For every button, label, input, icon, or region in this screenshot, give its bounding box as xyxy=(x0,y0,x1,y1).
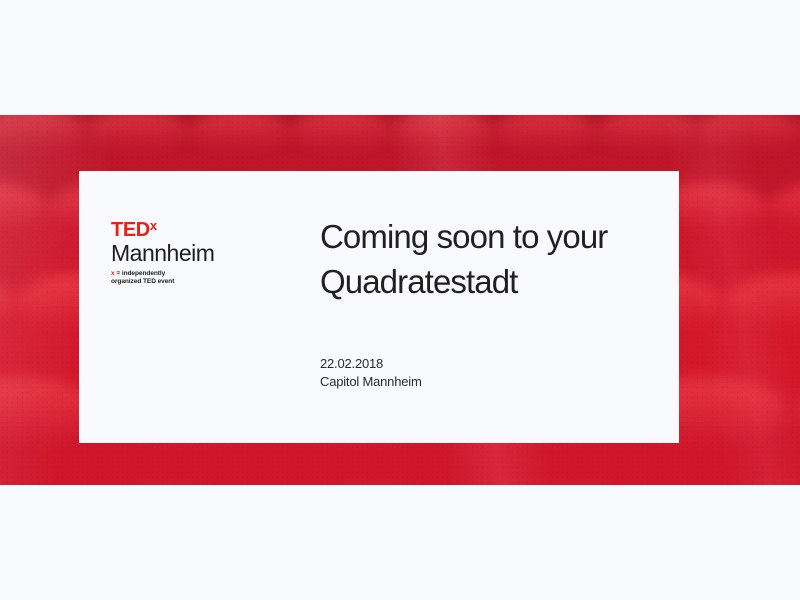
headline-line-1: Coming soon to your xyxy=(320,214,660,259)
headline: Coming soon to your Quadratestadt xyxy=(320,214,660,304)
tedx-x-superscript: x xyxy=(150,218,157,233)
tagline-line-1: x = independently xyxy=(111,270,165,277)
tagline-line-2: organized TED event xyxy=(111,278,174,285)
event-venue: Capitol Mannheim xyxy=(320,373,422,391)
slide-canvas: TEDx Mannheim x = independently organize… xyxy=(0,0,800,600)
headline-line-2: Quadratestadt xyxy=(320,259,660,304)
event-details: 22.02.2018 Capitol Mannheim xyxy=(320,355,422,391)
content-card: TEDx Mannheim x = independently organize… xyxy=(79,171,679,443)
event-date: 22.02.2018 xyxy=(320,355,422,373)
ted-text: TED xyxy=(111,219,150,241)
tedx-mannheim-logo: TEDx Mannheim x = independently organize… xyxy=(111,216,291,286)
city-wordmark: Mannheim xyxy=(111,241,291,266)
tedx-wordmark: TEDx xyxy=(111,216,291,240)
tedx-license-tagline: x = independently organized TED event xyxy=(111,270,291,286)
